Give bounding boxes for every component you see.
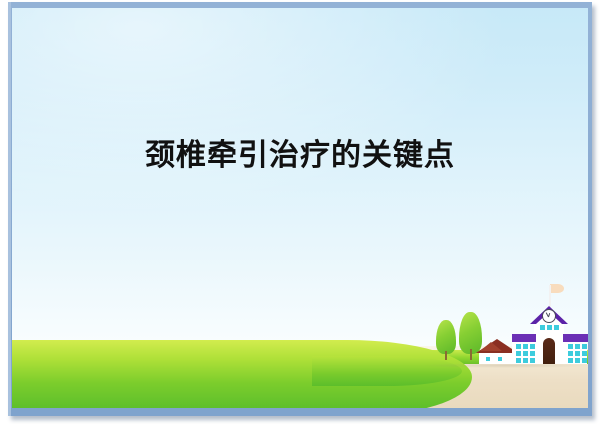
school-window — [540, 325, 545, 330]
school-window — [582, 351, 587, 356]
school-window — [568, 344, 573, 349]
flag-pole-icon — [549, 285, 551, 307]
school-window — [530, 358, 535, 363]
school-window — [547, 325, 552, 330]
school-door-icon — [543, 338, 555, 364]
school-window — [523, 358, 528, 363]
house-roof-highlight — [480, 342, 502, 351]
sky-gradient — [12, 8, 588, 256]
house-window — [498, 357, 502, 361]
school-window — [568, 351, 573, 356]
flag-icon — [550, 284, 564, 293]
school-window — [575, 351, 580, 356]
school-window — [582, 358, 587, 363]
slide-title: 颈椎牵引治疗的关键点 — [12, 136, 588, 176]
slide-root: 颈椎牵引治疗的关键点 — [0, 0, 600, 424]
school-band — [512, 334, 536, 342]
school-window — [554, 325, 559, 330]
school-window — [530, 351, 535, 356]
school-window — [530, 344, 535, 349]
school-window — [568, 358, 573, 363]
tree-crown-icon — [436, 320, 456, 354]
slide-canvas: 颈椎牵引治疗的关键点 — [12, 8, 588, 408]
school-window — [582, 344, 587, 349]
school-window — [575, 358, 580, 363]
school-window — [575, 344, 580, 349]
tree-icon — [436, 320, 456, 360]
school-window — [516, 344, 521, 349]
house-window — [486, 357, 490, 361]
school-window — [523, 344, 528, 349]
school-window — [516, 351, 521, 356]
clock-icon — [542, 309, 556, 323]
school-window — [516, 358, 521, 363]
school-window — [523, 351, 528, 356]
grass-hill-tip — [312, 356, 462, 386]
tree-trunk-icon — [470, 349, 472, 360]
school-building-icon — [512, 286, 588, 364]
tree-trunk-icon — [445, 351, 447, 360]
school-band — [563, 334, 588, 342]
